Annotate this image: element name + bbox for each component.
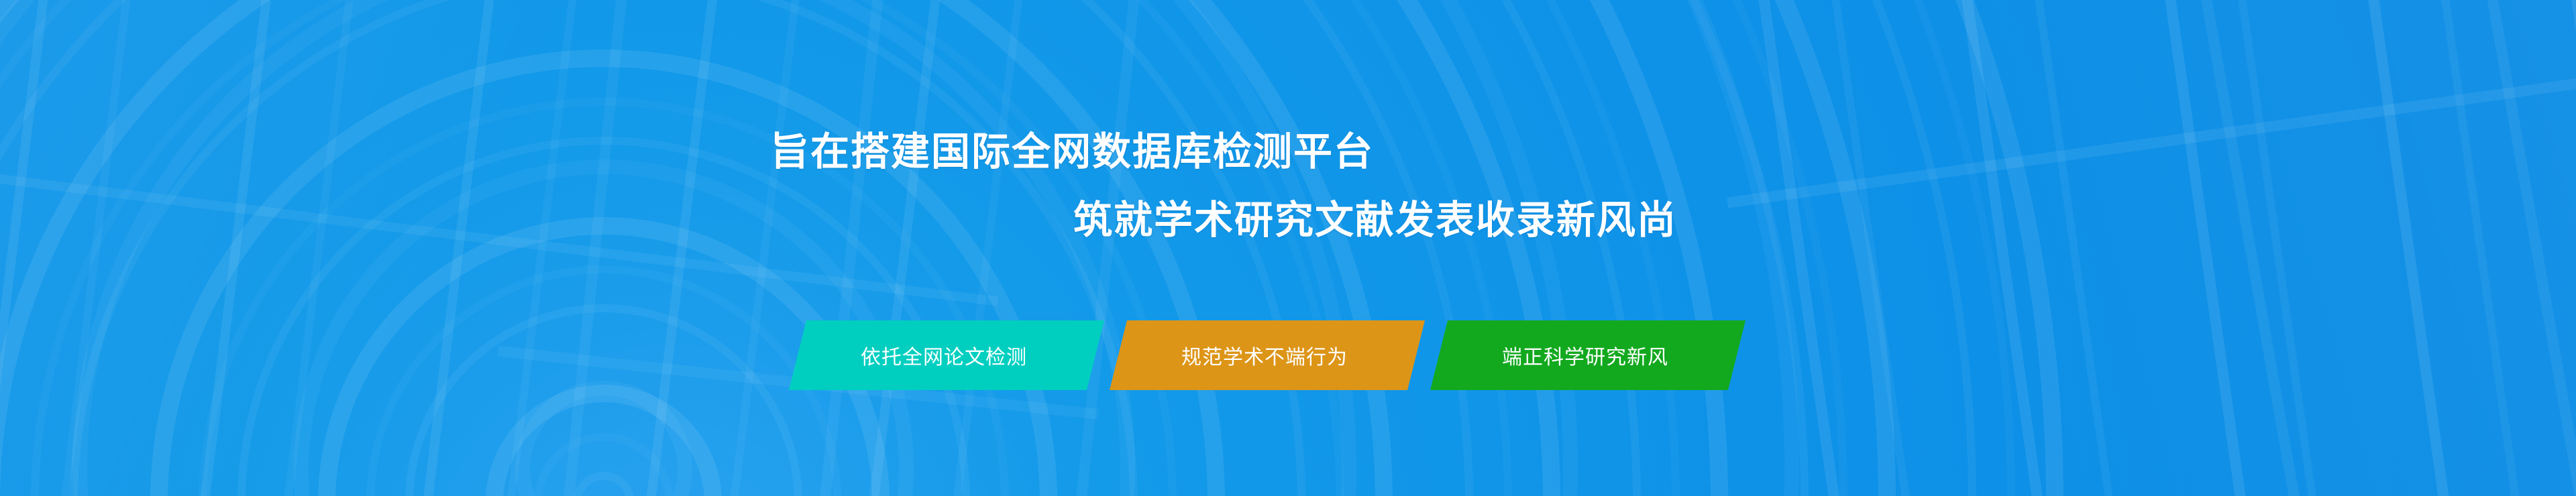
feature-tag-label: 依托全网论文检测 [861, 340, 1027, 370]
headline-line-1: 旨在搭建国际全网数据库检测平台 [770, 133, 1374, 172]
headline-line-2: 筑就学术研究文献发表收录新风尚 [1073, 201, 1677, 240]
promo-banner: 旨在搭建国际全网数据库检测平台 筑就学术研究文献发表收录新风尚 依托全网论文检测… [0, 0, 2576, 496]
feature-tag-research-integrity[interactable]: 端正科学研究新风 [1430, 320, 1746, 390]
feature-tag-plagiarism-detection[interactable]: 依托全网论文检测 [789, 320, 1104, 390]
feature-tag-label: 规范学术不端行为 [1181, 340, 1348, 370]
feature-tag-label: 端正科学研究新风 [1502, 340, 1668, 370]
feature-tag-academic-misconduct[interactable]: 规范学术不端行为 [1110, 320, 1425, 390]
banner-content: 旨在搭建国际全网数据库检测平台 筑就学术研究文献发表收录新风尚 依托全网论文检测… [0, 0, 2576, 496]
